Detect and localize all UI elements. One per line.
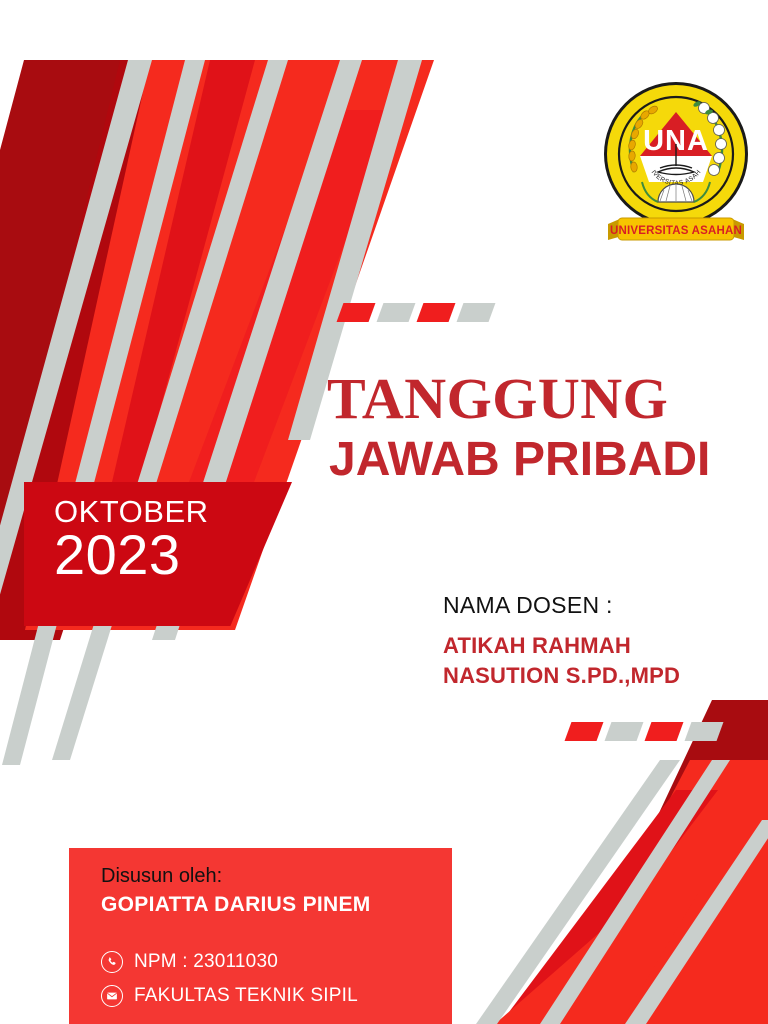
dash-gray-2 <box>457 303 496 322</box>
bottom-right-stripe-cluster <box>476 700 768 1024</box>
university-logo: UNA UNIVERSITAS ASAHAN <box>600 78 752 254</box>
stripe-br-bright-1 <box>552 760 768 1024</box>
phone-icon <box>101 951 123 973</box>
dash-red-4 <box>645 722 684 741</box>
lecturer-name-line-1: ATIKAH RAHMAH <box>443 631 743 661</box>
dash-gray-1 <box>377 303 416 322</box>
contact-list: NPM : 23011030 FAKULTAS TEKNIK SIPIL <box>101 951 452 1007</box>
stripe-gray-line-2 <box>2 60 205 765</box>
stripe-br-mid <box>500 790 718 1024</box>
title-line-2: JAWAB PRIBADI <box>329 436 737 484</box>
dash-gray-3 <box>605 722 644 741</box>
dash-red-1 <box>337 303 376 322</box>
stripe-br-gray-1 <box>476 760 680 1024</box>
author-box: Disusun oleh: GOPIATTA DARIUS PINEM NPM … <box>69 848 452 1024</box>
lecturer-block: NAMA DOSEN : ATIKAH RAHMAH NASUTION S.PD… <box>443 592 743 690</box>
contact-row-faculty: FAKULTAS TEKNIK SIPIL <box>101 985 452 1007</box>
date-badge: OKTOBER 2023 <box>24 482 292 626</box>
prepared-by-label: Disusun oleh: <box>101 864 452 888</box>
dash-gray-4 <box>685 722 724 741</box>
contact-text-npm: NPM : 23011030 <box>134 951 278 973</box>
dash-accent-top <box>340 303 492 322</box>
date-year: 2023 <box>54 527 292 583</box>
page-title: TANGGUNG JAWAB PRIBADI <box>327 370 737 484</box>
lecturer-label: NAMA DOSEN : <box>443 592 743 619</box>
author-name: GOPIATTA DARIUS PINEM <box>101 893 452 917</box>
dash-red-3 <box>565 722 604 741</box>
stripe-br-dark-red <box>560 700 768 1024</box>
stripe-br-bright-2 <box>495 890 700 1024</box>
logo-banner-text: UNIVERSITAS ASAHAN <box>610 225 742 237</box>
title-line-1: TANGGUNG <box>327 370 737 428</box>
stripe-gray-line-3 <box>52 60 288 760</box>
contact-row-npm: NPM : 23011030 <box>101 951 452 973</box>
dash-red-2 <box>417 303 456 322</box>
stripe-br-gray-2 <box>540 760 730 1024</box>
stripe-br-gray-3 <box>625 820 768 1024</box>
envelope-icon <box>101 985 123 1007</box>
logo-ribbon-banner: UNIVERSITAS ASAHAN <box>608 218 744 240</box>
cover-page: UNA UNIVERSITAS ASAHAN <box>0 0 768 1024</box>
lecturer-name-line-2: NASUTION S.PD.,MPD <box>443 661 743 691</box>
contact-text-faculty: FAKULTAS TEKNIK SIPIL <box>134 985 358 1007</box>
dash-accent-lower <box>568 722 720 741</box>
